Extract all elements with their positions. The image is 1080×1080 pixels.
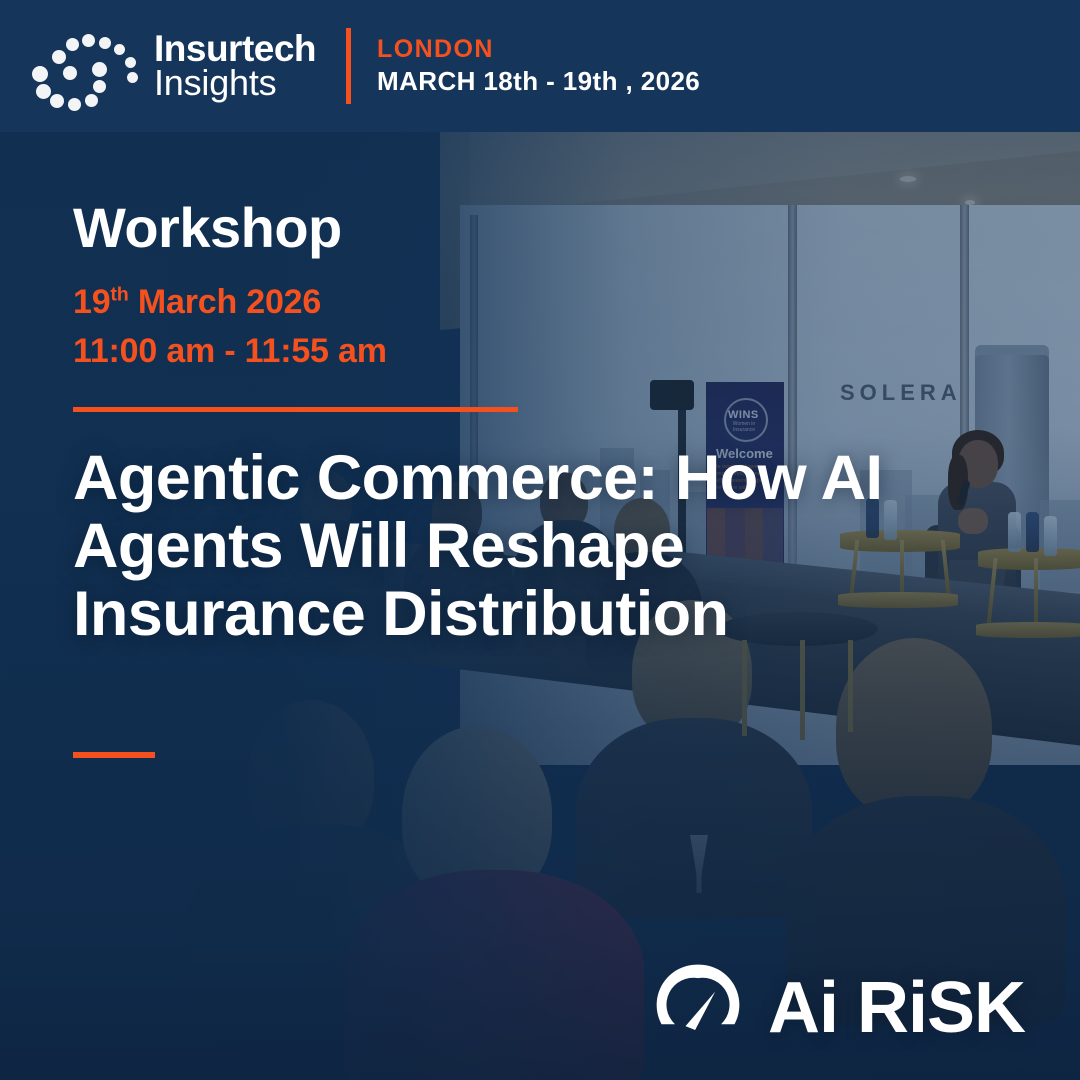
- logo-line-insights: Insights: [154, 66, 316, 101]
- header-dates: MARCH 18th - 19th , 2026: [377, 65, 700, 98]
- orange-accent-dash: [73, 752, 155, 758]
- insurtech-logo-wordmark: Insurtech Insights: [154, 31, 316, 101]
- header-bar: Insurtech Insights LONDON MARCH 18th - 1…: [0, 0, 1080, 132]
- header-city: LONDON: [377, 34, 700, 65]
- gauge-speedometer-icon: [650, 957, 746, 1058]
- main-content: Workshop 19th March 2026 11:00 am - 11:5…: [73, 132, 1023, 758]
- logo-line-insurtech: Insurtech: [154, 31, 316, 67]
- header-vertical-divider: [346, 28, 351, 104]
- session-date-rest: March 2026: [129, 283, 321, 321]
- session-time: 11:00 am - 11:55 am: [73, 327, 1023, 376]
- airisk-wordmark: Ai RiSK: [768, 972, 1025, 1044]
- session-date-day: 19: [73, 283, 110, 321]
- insurtech-dots-logo-icon: [30, 32, 140, 100]
- session-type-heading: Workshop: [73, 200, 1023, 256]
- session-date: 19th March 2026: [73, 278, 1023, 327]
- session-meta: 19th March 2026 11:00 am - 11:55 am: [73, 278, 1023, 377]
- orange-divider-rule: [73, 407, 518, 412]
- session-date-ordinal: th: [110, 284, 128, 306]
- airisk-logo: Ai RiSK: [650, 957, 1025, 1058]
- event-poster: SOLERA WINS Women in Insurance Welcome B…: [0, 0, 1080, 1080]
- header-event-info: LONDON MARCH 18th - 19th , 2026: [377, 34, 700, 98]
- session-title: Agentic Commerce: How AI Agents Will Res…: [73, 444, 953, 648]
